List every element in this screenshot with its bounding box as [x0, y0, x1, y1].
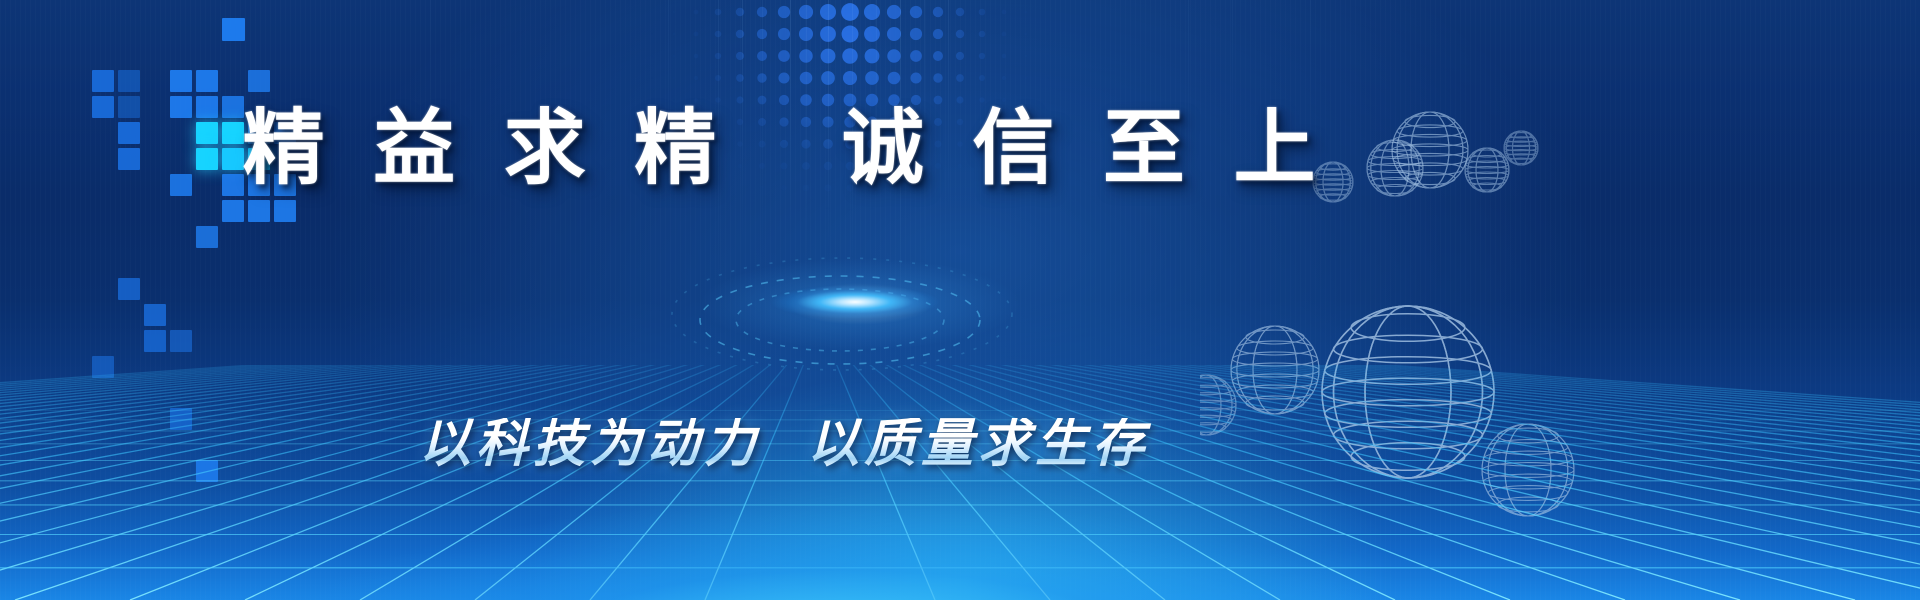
mosaic-tile: [222, 18, 245, 41]
mosaic-tile: [144, 330, 166, 352]
mosaic-tile: [118, 278, 140, 300]
page-subtitle: 以科技为动力 以质量求生存: [0, 418, 1568, 470]
mosaic-tile: [92, 70, 114, 92]
mosaic-tile: [274, 200, 296, 222]
page-title: 精 益 求 精 诚 信 至 上: [0, 108, 1568, 190]
mosaic-tile: [118, 70, 140, 92]
hero-banner: 精 益 求 精 诚 信 至 上 以科技为动力 以质量求生存: [0, 0, 1920, 600]
mosaic-tile: [222, 200, 244, 222]
floor-glow: [0, 365, 1920, 600]
perspective-grid-floor: [0, 365, 1920, 600]
mosaic-tile: [196, 226, 218, 248]
center-light-core: [770, 285, 940, 319]
mosaic-tile: [248, 70, 270, 92]
mosaic-tile: [170, 330, 192, 352]
mosaic-tile: [248, 200, 270, 222]
mosaic-tile: [170, 70, 192, 92]
mosaic-tile: [196, 70, 218, 92]
mosaic-tile: [144, 304, 166, 326]
